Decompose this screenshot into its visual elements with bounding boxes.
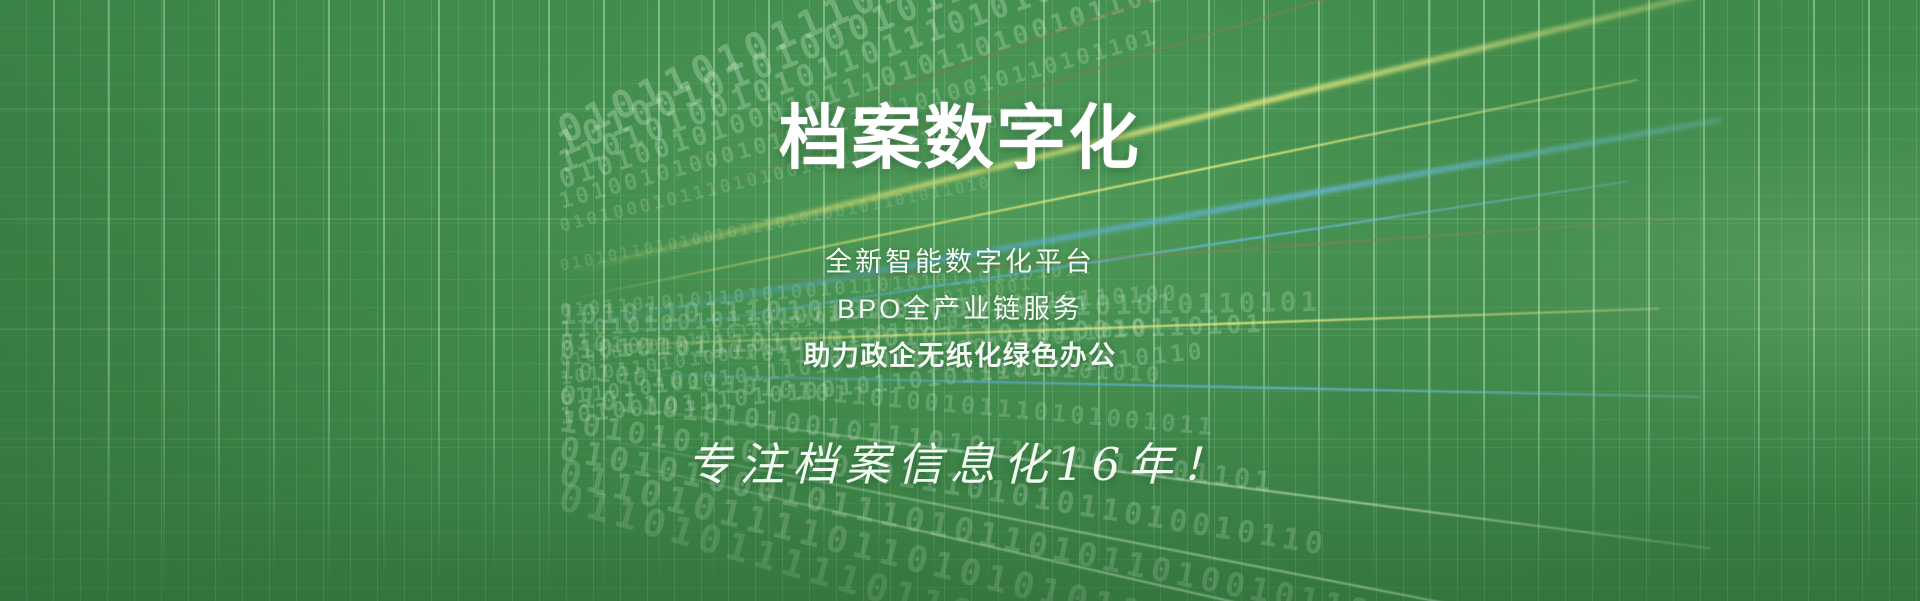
hero-banner: 0101001011101010010101011010110101001101… xyxy=(0,0,1920,601)
banner-headline: 档案数字化 xyxy=(779,103,1141,173)
banner-subheading-3: 助力政企无纸化绿色办公 xyxy=(803,343,1116,370)
banner-tagline: 专注档案信息化16年！ xyxy=(687,442,1233,487)
banner-subheading-1: 全新智能数字化平台 xyxy=(825,249,1095,276)
banner-content: 档案数字化 全新智能数字化平台 BPO全产业链服务 助力政企无纸化绿色办公 专注… xyxy=(0,0,1920,601)
banner-subheading-2: BPO全产业链服务 xyxy=(837,296,1083,323)
banner-subheadings: 全新智能数字化平台 BPO全产业链服务 助力政企无纸化绿色办公 xyxy=(803,249,1116,370)
